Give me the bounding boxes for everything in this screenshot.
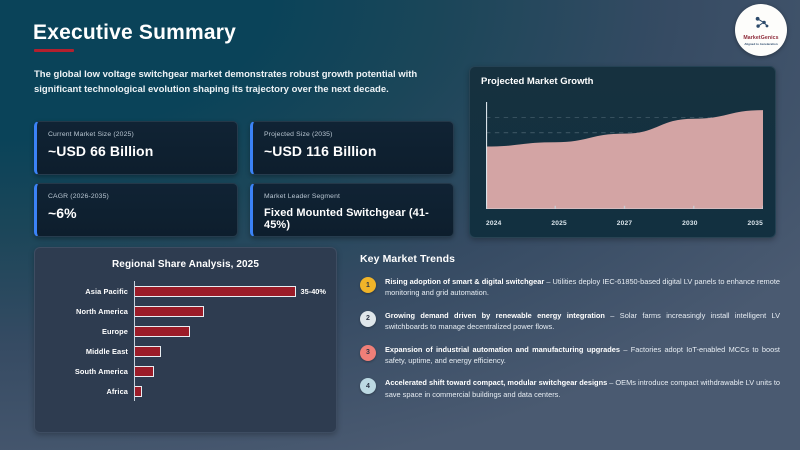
x-tick-label: 2035 (748, 220, 763, 227)
company-logo: MarketGenics Aligned to Acceleration (735, 4, 787, 56)
x-tick-label: 2027 (617, 220, 632, 227)
chart-title: Projected Market Growth (481, 76, 764, 87)
trend-number-badge: 4 (360, 378, 376, 394)
chart-title: Regional Share Analysis, 2025 (35, 259, 336, 270)
kpi-label: Market Leader Segment (264, 193, 441, 200)
title-accent-rule (34, 49, 74, 52)
bar-series: Asia Pacific35-40%North AmericaEuropeMid… (35, 281, 336, 401)
kpi-card-current-market-size: Current Market Size (2025) ~USD 66 Billi… (34, 121, 238, 175)
bar-track (134, 381, 326, 401)
kpi-value: ~USD 66 Billion (48, 143, 225, 159)
bar-row: Asia Pacific35-40% (35, 281, 326, 301)
bar-row: Europe (35, 321, 326, 341)
trend-number-badge: 2 (360, 311, 376, 327)
bar-fill (135, 366, 154, 377)
trend-number-badge: 3 (360, 345, 376, 361)
bar-value-label: 35-40% (301, 287, 326, 296)
bar-row: South America (35, 361, 326, 381)
logo-company-name: MarketGenics (743, 35, 778, 41)
bar-category-label: Europe (35, 327, 134, 336)
bar-track (134, 361, 326, 381)
logo-tagline: Aligned to Acceleration (744, 42, 777, 46)
trend-text: Expansion of industrial automation and m… (385, 344, 780, 367)
chart-x-axis-labels: 20242025202720302035 (486, 220, 763, 227)
bar-row: Africa (35, 381, 326, 401)
bar-fill (135, 386, 142, 397)
chart-plot-area (486, 102, 763, 209)
bar-track (134, 341, 326, 361)
kpi-value: ~6% (48, 205, 225, 221)
molecule-node-icon (754, 16, 769, 34)
kpi-label: CAGR (2026-2035) (48, 193, 225, 200)
trend-text: Accelerated shift toward compact, modula… (385, 377, 780, 400)
bar-track (134, 321, 326, 341)
bar-fill (135, 286, 296, 297)
x-tick-label: 2030 (682, 220, 697, 227)
projected-market-growth-chart: Projected Market Growth 2024202520272030… (469, 66, 776, 238)
trend-item: 4Accelerated shift toward compact, modul… (360, 377, 780, 400)
kpi-value: ~USD 116 Billion (264, 143, 441, 159)
bar-row: North America (35, 301, 326, 321)
key-market-trends-panel: Key Market Trends 1Rising adoption of sm… (360, 253, 780, 400)
bar-category-label: North America (35, 307, 134, 316)
regional-share-chart: Regional Share Analysis, 2025 Asia Pacif… (34, 247, 337, 433)
x-tick-label: 2025 (551, 220, 566, 227)
bar-category-label: Middle East (35, 347, 134, 356)
bar-category-label: South America (35, 367, 134, 376)
bar-fill (135, 346, 161, 357)
bar-category-label: Africa (35, 387, 134, 396)
kpi-value: Fixed Mounted Switchgear (41-45%) (264, 207, 441, 231)
page-title: Executive Summary (33, 21, 236, 45)
trend-text: Growing demand driven by renewable energ… (385, 310, 780, 333)
kpi-card-market-leader-segment: Market Leader Segment Fixed Mounted Swit… (250, 183, 454, 237)
trend-number-badge: 1 (360, 277, 376, 293)
bar-fill (135, 326, 190, 337)
trend-item: 2Growing demand driven by renewable ener… (360, 310, 780, 333)
trends-title: Key Market Trends (360, 253, 780, 265)
page-subtitle: The global low voltage switchgear market… (34, 68, 454, 97)
kpi-label: Projected Size (2035) (264, 131, 441, 138)
trend-item: 1Rising adoption of smart & digital swit… (360, 276, 780, 299)
trend-item: 3Expansion of industrial automation and … (360, 344, 780, 367)
trend-text: Rising adoption of smart & digital switc… (385, 276, 780, 299)
trends-list: 1Rising adoption of smart & digital swit… (360, 276, 780, 400)
bar-category-label: Asia Pacific (35, 287, 134, 296)
kpi-card-cagr: CAGR (2026-2035) ~6% (34, 183, 238, 237)
kpi-label: Current Market Size (2025) (48, 131, 225, 138)
bar-track (134, 301, 326, 321)
kpi-card-projected-size: Projected Size (2035) ~USD 116 Billion (250, 121, 454, 175)
bar-track: 35-40% (134, 281, 326, 301)
bar-row: Middle East (35, 341, 326, 361)
area-series (486, 102, 763, 209)
kpi-grid: Current Market Size (2025) ~USD 66 Billi… (34, 121, 454, 237)
x-tick-label: 2024 (486, 220, 501, 227)
bar-fill (135, 306, 204, 317)
